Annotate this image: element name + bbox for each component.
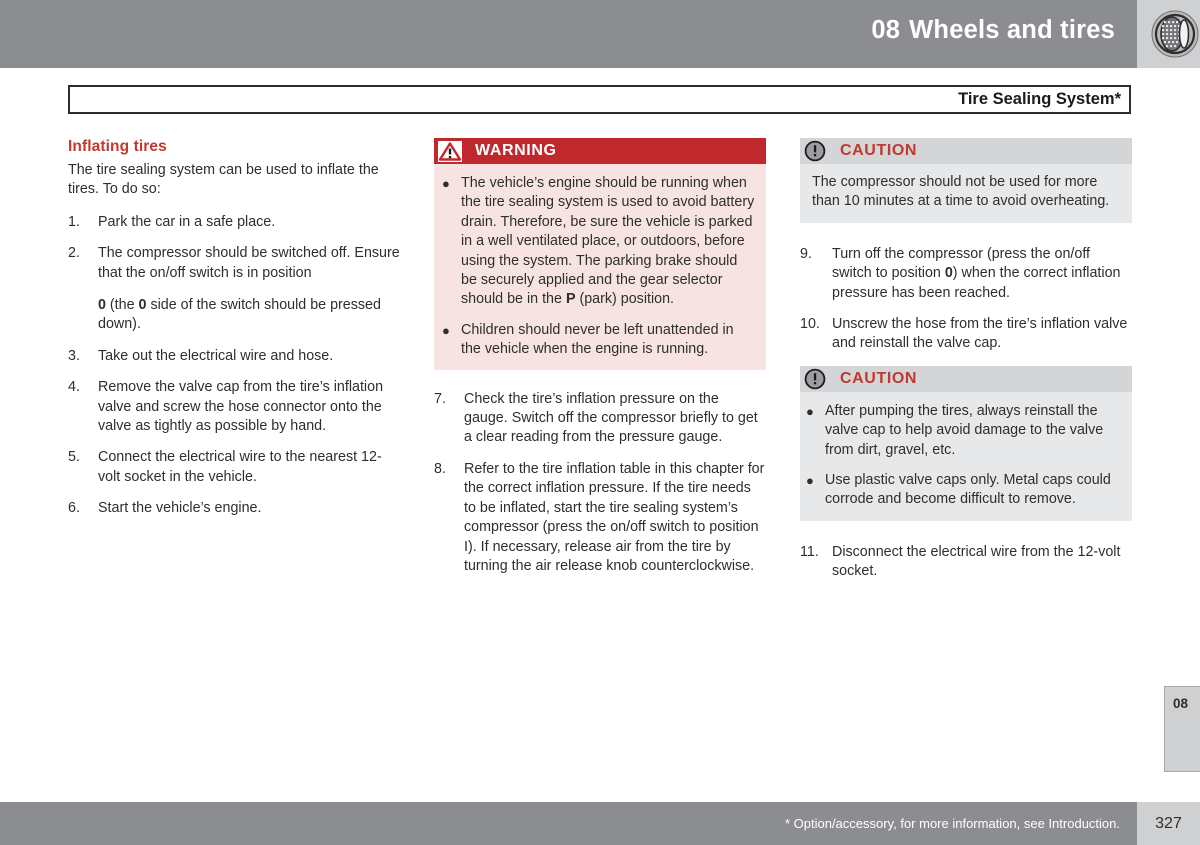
step-number: 9. [800,245,832,303]
list-item: 6. Start the vehicle’s engine. [68,499,400,518]
left-steps-list: 1. Park the car in a safe place. 2. The … [68,213,400,519]
warning-bullet-list: ● The vehicle’s engine should be running… [442,174,756,360]
page-footer-bar: * Option/accessory, for more information… [0,802,1200,845]
warning-label: WARNING [475,142,557,160]
caution-box-1: CAUTION The compressor should not be use… [800,138,1132,223]
bullet-icon: ● [442,174,461,310]
page-number: 327 [1155,815,1182,833]
right-column: CAUTION The compressor should not be use… [800,138,1132,594]
caution-bullet-list: ● After pumping the tires, always reinst… [806,402,1122,510]
list-item: 5. Connect the electrical wire to the ne… [68,448,400,487]
step-number: 4. [68,378,98,436]
page-title: 08Wheels and tires [871,16,1115,45]
step-number: 11. [800,543,832,582]
warning-body: ● The vehicle’s engine should be running… [434,164,766,370]
step-number: 7. [434,390,464,448]
warning-box: WARNING ● The vehicle’s engine should be… [434,138,766,370]
section-title-box: Tire Sealing System* [68,85,1131,114]
right-steps-list-b: 11. Disconnect the electrical wire from … [800,543,1132,582]
switch-side-zero: 0 [139,297,147,313]
step-text: Unscrew the hose from the tire’s inflati… [832,315,1132,354]
step-number: 2. [68,244,98,335]
list-item: ● Use plastic valve caps only. Metal cap… [806,471,1122,510]
switch-position-zero: 0 [945,265,953,281]
bullet-text: The vehicle’s engine should be running w… [461,174,756,310]
page-header-bar: 08Wheels and tires [0,0,1137,68]
bullet-icon: ● [806,471,825,510]
step-text-sub: 0 (the 0 side of the switch should be pr… [98,296,400,335]
step-number: 8. [434,460,464,576]
list-item: 7. Check the tire’s inflation pressure o… [434,390,766,448]
step-text: Take out the electrical wire and hose. [98,347,400,366]
caution-body: The compressor should not be used for mo… [800,164,1132,223]
caution-label: CAUTION [840,142,917,160]
warning-triangle-icon [438,141,462,162]
caution-circle-icon [803,367,827,391]
step-text: Check the tire’s inflation pressure on t… [464,390,766,448]
list-item: 8. Refer to the tire inflation table in … [434,460,766,576]
caution-box-2: CAUTION ● After pumping the tires, alway… [800,366,1132,521]
caution-circle-icon [803,139,827,163]
list-item: 3. Take out the electrical wire and hose… [68,347,400,366]
switch-position-zero: 0 [98,297,106,313]
list-item: ● After pumping the tires, always reinst… [806,402,1122,460]
chapter-title: Wheels and tires [909,16,1115,44]
bullet-text: Use plastic valve caps only. Metal caps … [825,471,1122,510]
middle-column: WARNING ● The vehicle’s engine should be… [434,138,766,588]
step-number: 5. [68,448,98,487]
middle-steps-list: 7. Check the tire’s inflation pressure o… [434,390,766,577]
caution-body: ● After pumping the tires, always reinst… [800,392,1132,521]
step-number: 6. [68,499,98,518]
step-number: 1. [68,213,98,232]
list-item: 11. Disconnect the electrical wire from … [800,543,1132,582]
step-text: Start the vehicle’s engine. [98,499,400,518]
chapter-side-tab: 08 [1164,686,1200,772]
section-title-label: Tire Sealing System* [958,90,1121,109]
step-text: Refer to the tire inflation table in thi… [464,460,766,576]
manual-page: 08Wheels and tires [0,0,1200,845]
list-item: ● Children should never be left unattend… [442,321,756,360]
step-text: The compressor should be switched off. E… [98,244,400,335]
bullet-text: After pumping the tires, always reinstal… [825,402,1122,460]
step-text: Connect the electrical wire to the neare… [98,448,400,487]
tire-icon [1150,9,1200,59]
step-text: Park the car in a safe place. [98,213,400,232]
bullet-icon: ● [442,321,461,360]
chapter-number: 08 [871,16,900,44]
bullet-icon: ● [806,402,825,460]
list-item: 4. Remove the valve cap from the tire’s … [68,378,400,436]
step-text: Turn off the compressor (press the on/of… [832,245,1132,303]
caution-header: CAUTION [800,138,1132,164]
bullet-text: Children should never be left unattended… [461,321,756,360]
list-item: 2. The compressor should be switched off… [68,244,400,335]
section-heading: Inflating tires [68,138,400,156]
list-item: 10. Unscrew the hose from the tire’s inf… [800,315,1132,354]
intro-paragraph: The tire sealing system can be used to i… [68,161,400,200]
step-number: 10. [800,315,832,354]
step-text: Disconnect the electrical wire from the … [832,543,1132,582]
caution-header: CAUTION [800,366,1132,392]
footnote-text: * Option/accessory, for more information… [785,816,1120,831]
header-icon-panel [1137,0,1200,68]
right-steps-list-a: 9. Turn off the compressor (press the on… [800,245,1132,354]
list-item: 9. Turn off the compressor (press the on… [800,245,1132,303]
chapter-tab-label: 08 [1173,696,1188,711]
left-column: Inflating tires The tire sealing system … [68,138,400,531]
step-text: Remove the valve cap from the tire’s inf… [98,378,400,436]
list-item: 1. Park the car in a safe place. [68,213,400,232]
list-item: ● The vehicle’s engine should be running… [442,174,756,310]
step-text-main: The compressor should be switched off. E… [98,245,400,280]
step-number: 3. [68,347,98,366]
caution-label: CAUTION [840,370,917,388]
page-number-box: 327 [1137,802,1200,845]
warning-header: WARNING [434,138,766,164]
